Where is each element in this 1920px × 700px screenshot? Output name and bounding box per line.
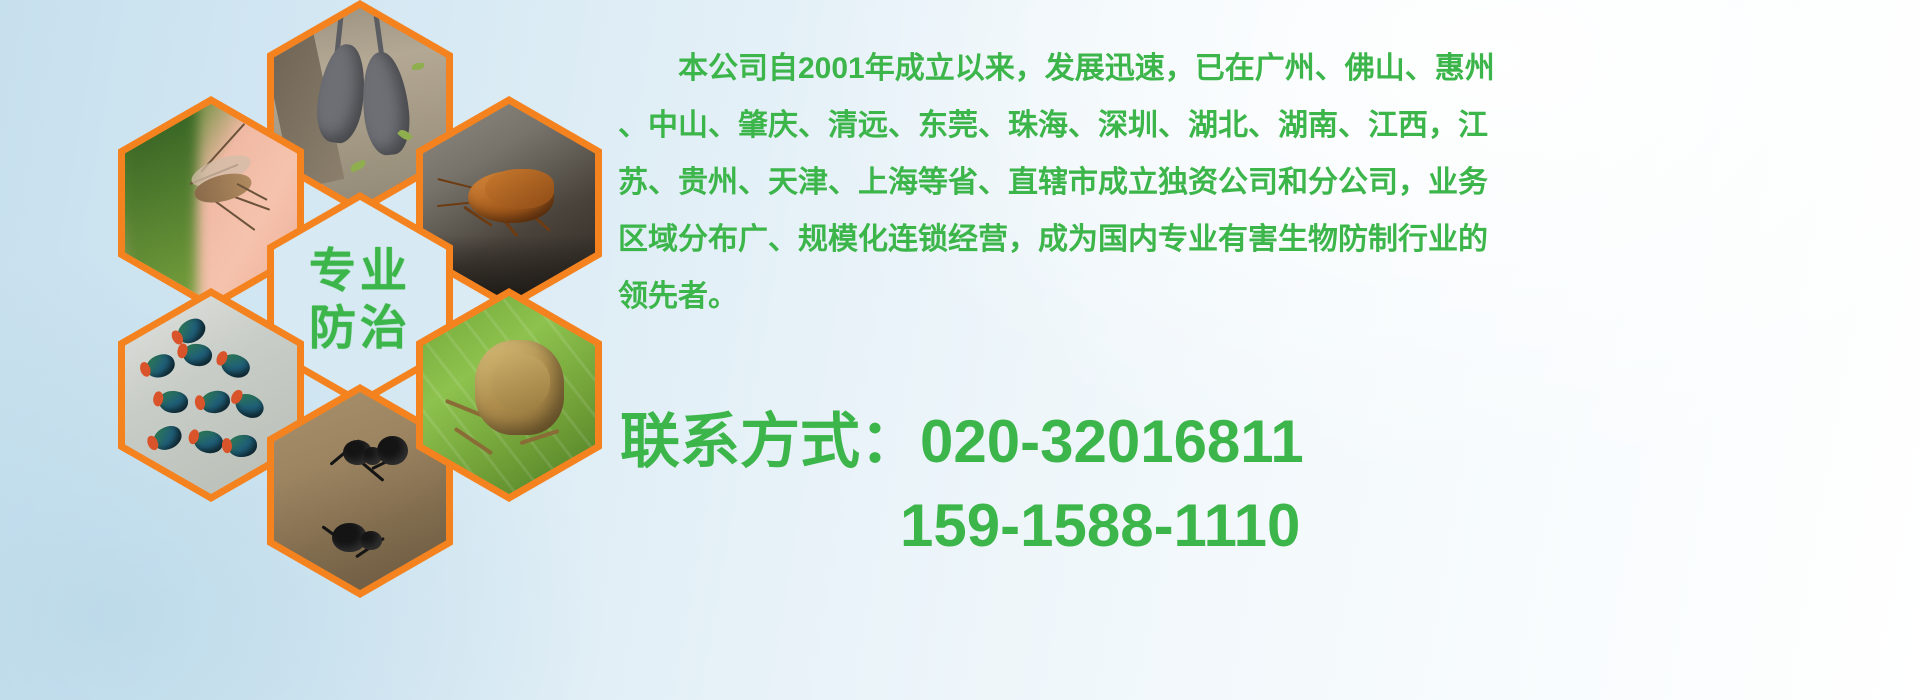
stink-bug-photo bbox=[423, 296, 595, 494]
company-intro-paragraph: 本公司自2001年成立以来，发展迅速，已在广州、佛山、惠州 、中山、肇庆、清远、… bbox=[618, 40, 1908, 325]
slogan-text: 专业 防治 bbox=[309, 242, 411, 357]
intro-line-3: 苏、贵州、天津、上海等省、直辖市成立独资公司和分公司，业务 bbox=[618, 154, 1908, 211]
intro-line-2: 、中山、肇庆、清远、东莞、珠海、深圳、湖北、湖南、江西，江 bbox=[618, 97, 1908, 154]
intro-line-1: 本公司自2001年成立以来，发展迅速，已在广州、佛山、惠州 bbox=[618, 40, 1908, 97]
contact-secondary-phone[interactable]: 159-1588-1110 bbox=[620, 484, 1910, 568]
company-intro-block: 本公司自2001年成立以来，发展迅速，已在广州、佛山、惠州 、中山、肇庆、清远、… bbox=[618, 40, 1908, 325]
slogan-line-1: 专业 bbox=[309, 242, 411, 299]
contact-block: 联系方式：020-32016811 159-1588-1110 bbox=[620, 400, 1910, 568]
intro-line-4: 区域分布广、规模化连锁经营，成为国内专业有害生物防制行业的 bbox=[618, 211, 1908, 268]
intro-line-5: 领先者。 bbox=[618, 268, 1908, 325]
contact-primary-phone[interactable]: 联系方式：020-32016811 bbox=[620, 400, 1910, 484]
slogan-line-2: 防治 bbox=[309, 299, 411, 356]
hexagon-photo-cluster: 专业 防治 bbox=[78, 0, 638, 592]
